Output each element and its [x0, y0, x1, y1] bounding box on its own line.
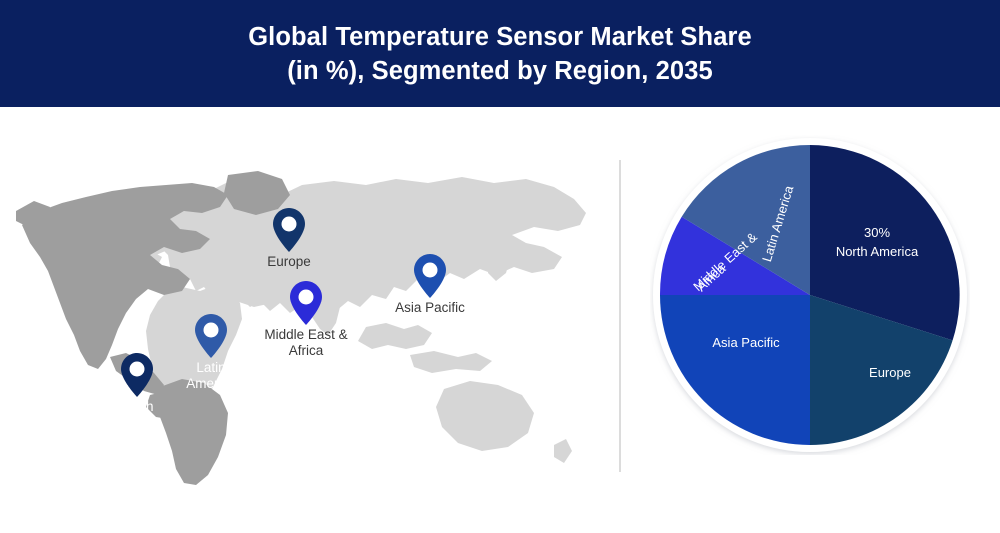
pie-label-north-america-value: 30% — [864, 225, 890, 240]
pie-slice-asia-pacific[interactable] — [660, 295, 810, 445]
location-pin-icon — [290, 281, 322, 325]
page-title-line-2: (in %), Segmented by Region, 2035 — [287, 54, 713, 88]
page-title-line-1: Global Temperature Sensor Market Share — [248, 20, 752, 54]
infographic-root: Global Temperature Sensor Market Share (… — [0, 0, 1000, 533]
pie-label-north-america-name: North America — [836, 244, 919, 259]
header-banner: Global Temperature Sensor Market Share (… — [0, 0, 1000, 107]
pie-label-asia-pacific-name: Asia Pacific — [712, 335, 780, 350]
location-pin-icon — [273, 208, 305, 252]
location-pin-icon — [195, 314, 227, 358]
world-map-graphic — [14, 169, 610, 487]
pie-chart: 30% North America Europe Asia Pacific Mi… — [650, 135, 970, 455]
pie-label-europe-name: Europe — [869, 365, 911, 380]
location-pin-icon — [121, 353, 153, 397]
pie-chart-panel: 30% North America Europe Asia Pacific Mi… — [619, 107, 1000, 533]
world-map-panel: North America Latin America — [0, 107, 619, 533]
body-area: North America Latin America — [0, 107, 1000, 533]
location-pin-icon — [414, 254, 446, 298]
pie-slices — [660, 145, 960, 445]
